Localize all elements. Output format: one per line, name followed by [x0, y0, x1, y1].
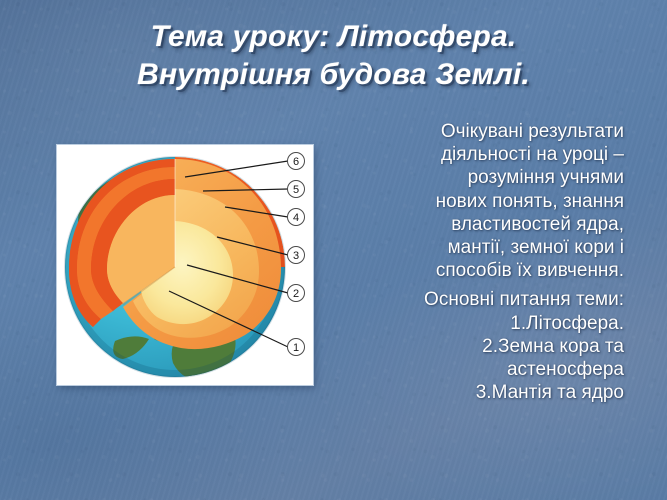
earth-cutaway-diagram: 6 5 4 3 2	[57, 145, 313, 385]
callout-marker-2: 2	[288, 285, 305, 302]
question-item-3-line-1: 3.Мантія та ядро	[326, 381, 624, 404]
callout-label-5: 5	[293, 184, 299, 196]
objective-line-7: способів їх вивчення.	[326, 259, 624, 282]
objective-line-6: мантії, земної кори і	[326, 236, 624, 259]
callout-label-2: 2	[293, 288, 299, 300]
title-line-1: Тема уроку: Літосфера.	[0, 18, 667, 56]
questions-heading: Основні питання теми:	[326, 288, 624, 311]
callout-marker-4: 4	[288, 209, 305, 226]
callout-label-1: 1	[293, 342, 299, 354]
objective-line-1: Очікувані результати	[326, 120, 624, 143]
objective-line-4: нових понять, знання	[326, 190, 624, 213]
objective-line-3: розуміння учнями	[326, 166, 624, 189]
slide-body-text: Очікувані результати діяльності на уроці…	[326, 120, 624, 404]
page-title: Тема уроку: Літосфера. Внутрішня будова …	[0, 18, 667, 94]
question-item-3: 3.Мантія та ядро	[326, 381, 624, 404]
callout-markers: 6 5 4 3 2	[288, 153, 305, 356]
callout-marker-6: 6	[288, 153, 305, 170]
objective-line-5: властивостей ядра,	[326, 213, 624, 236]
question-item-2-line-1: 2.Земна кора та	[326, 335, 624, 358]
callout-marker-3: 3	[288, 247, 305, 264]
callout-marker-1: 1	[288, 339, 305, 356]
question-item-1: 1.Літосфера.	[326, 312, 624, 335]
callout-label-6: 6	[293, 156, 299, 168]
title-line-2: Внутрішня будова Землі.	[0, 56, 667, 94]
question-item-2-line-2: астеносфера	[326, 358, 624, 381]
callout-label-3: 3	[293, 250, 299, 262]
objective-paragraph: Очікувані результати діяльності на уроці…	[326, 120, 624, 282]
callout-marker-5: 5	[288, 181, 305, 198]
callout-label-4: 4	[293, 212, 299, 224]
slide-canvas: Тема уроку: Літосфера. Внутрішня будова …	[0, 0, 667, 500]
earth-cutaway-panel: 6 5 4 3 2	[57, 145, 313, 385]
question-item-1-line-1: 1.Літосфера.	[326, 312, 624, 335]
objective-line-2: діяльності на уроці –	[326, 143, 624, 166]
question-item-2: 2.Земна кора та астеносфера	[326, 335, 624, 381]
